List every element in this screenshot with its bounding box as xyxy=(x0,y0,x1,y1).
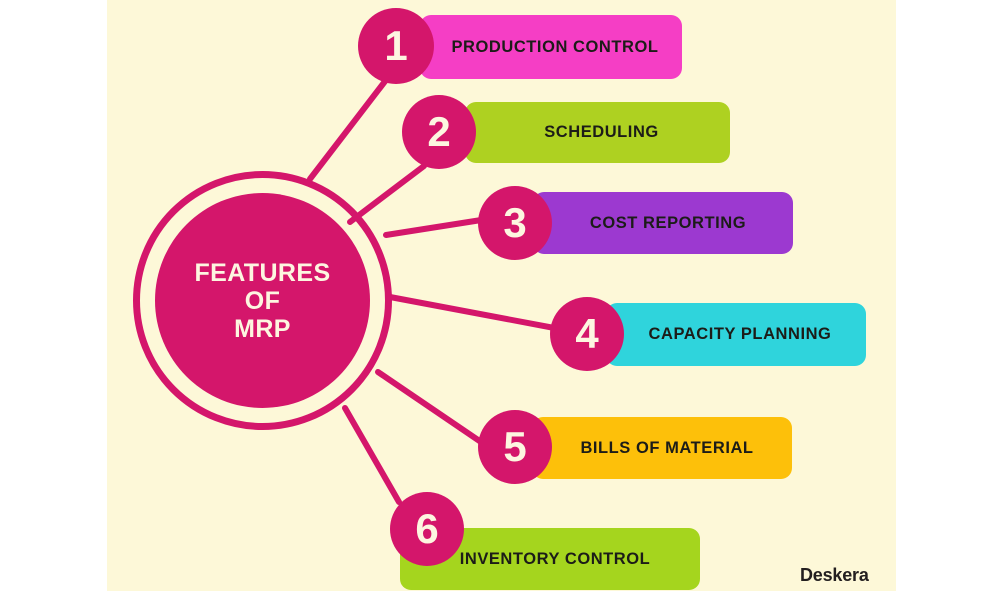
feature-number-4-text: 4 xyxy=(575,313,598,355)
connector-line-5 xyxy=(378,372,481,442)
feature-label-6: INVENTORY CONTROL xyxy=(420,550,690,569)
feature-label-3: COST REPORTING xyxy=(553,214,783,233)
feature-label-5: BILLS OF MATERIAL xyxy=(552,439,782,458)
connector-line-1 xyxy=(310,80,386,179)
hub-title-line-1: FEATURES xyxy=(194,259,330,287)
feature-bar-1[interactable]: PRODUCTION CONTROL xyxy=(420,15,682,79)
infographic-canvas: FEATURES OF MRP PRODUCTION CONTROL 1 SCH… xyxy=(0,0,1004,591)
deskera-logo: Deskera xyxy=(800,565,869,586)
feature-bar-5[interactable]: BILLS OF MATERIAL xyxy=(532,417,792,479)
feature-number-2[interactable]: 2 xyxy=(402,95,476,169)
feature-label-2: SCHEDULING xyxy=(483,123,720,142)
feature-bar-2[interactable]: SCHEDULING xyxy=(465,102,730,163)
connector-line-6 xyxy=(345,408,399,502)
feature-number-5-text: 5 xyxy=(503,426,526,468)
connector-line-4 xyxy=(390,297,565,330)
feature-bar-4[interactable]: CAPACITY PLANNING xyxy=(606,303,866,366)
feature-number-1[interactable]: 1 xyxy=(358,8,434,84)
hub-title-line-2: OF xyxy=(245,287,281,315)
feature-number-3[interactable]: 3 xyxy=(478,186,552,260)
hub-title: FEATURES OF MRP xyxy=(155,193,370,408)
feature-number-6-text: 6 xyxy=(415,508,438,550)
hub-title-line-3: MRP xyxy=(234,315,291,343)
feature-number-4[interactable]: 4 xyxy=(550,297,624,371)
feature-number-3-text: 3 xyxy=(503,202,526,244)
feature-number-1-text: 1 xyxy=(384,25,407,67)
feature-bar-3[interactable]: COST REPORTING xyxy=(533,192,793,254)
feature-label-4: CAPACITY PLANNING xyxy=(624,325,856,344)
feature-label-1: PRODUCTION CONTROL xyxy=(438,38,672,57)
feature-number-5[interactable]: 5 xyxy=(478,410,552,484)
feature-number-2-text: 2 xyxy=(427,111,450,153)
feature-number-6[interactable]: 6 xyxy=(390,492,464,566)
